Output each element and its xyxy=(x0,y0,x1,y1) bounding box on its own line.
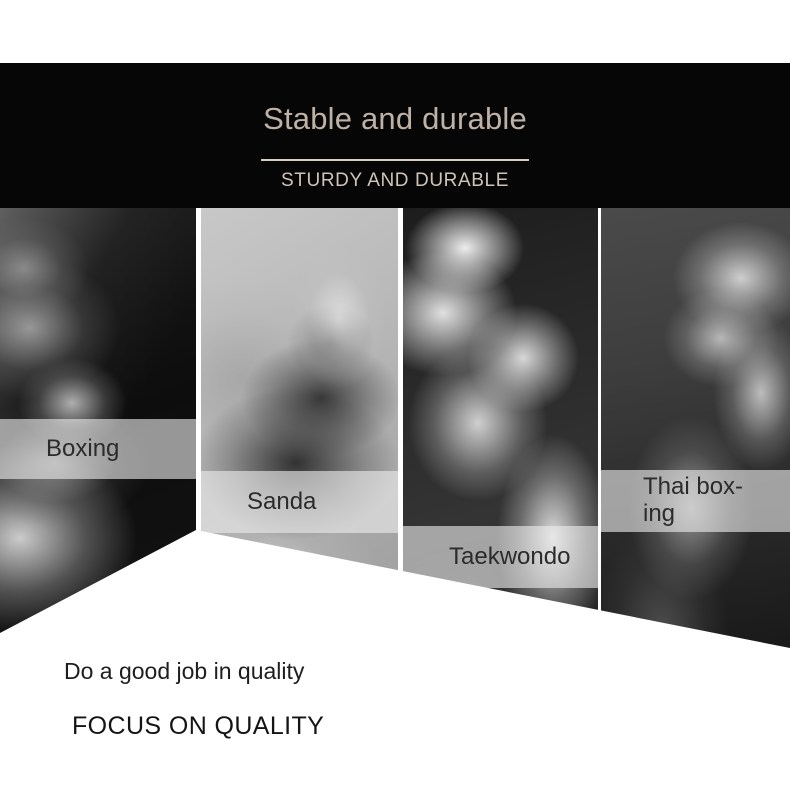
footer-text-block: Do a good job in quality FOCUS ON QUALIT… xyxy=(0,660,790,739)
footer-slogan: FOCUS ON QUALITY xyxy=(0,683,790,739)
page-title: Stable and durable xyxy=(0,103,790,134)
top-white-margin xyxy=(0,0,790,44)
gold-accent-strip xyxy=(0,44,790,63)
page-subtitle: STURDY AND DURABLE xyxy=(0,171,790,190)
product-detail-banner: Stable and durable STURDY AND DURABLE Bo… xyxy=(0,0,790,790)
title-divider xyxy=(261,159,529,161)
hero-section: Stable and durable STURDY AND DURABLE xyxy=(0,63,790,208)
footer-tagline: Do a good job in quality xyxy=(0,660,790,683)
